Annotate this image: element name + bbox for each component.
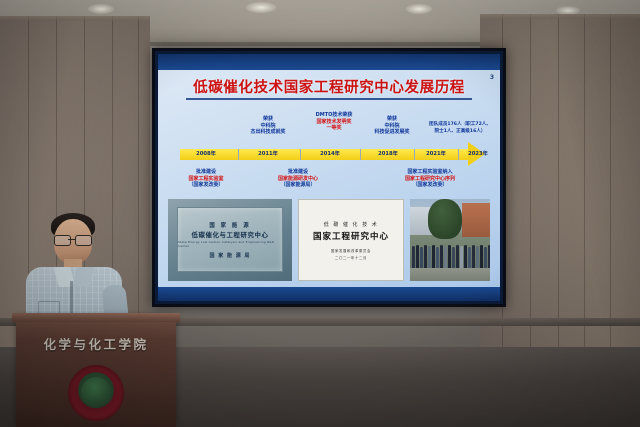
- glasses-right-lens: [75, 235, 92, 246]
- podium-top-surface: [12, 313, 180, 322]
- photo-plaque-engineering-center: 低 碳 催 化 技 术 国家工程研究中心 国家发展和改革委员会 二〇二一年十二月: [298, 199, 404, 281]
- timeline-tick-4: [414, 149, 415, 160]
- plaque2-line1: 低 碳 催 化 技 术: [324, 221, 378, 228]
- timeline-year-2021: 2021年: [426, 150, 446, 157]
- timeline-year-2023: 2023年: [468, 150, 488, 157]
- plaque2-line3: 国家发展和改革委员会: [331, 248, 371, 253]
- plaque1-line2: 低碳催化与工程研究中心: [192, 230, 269, 239]
- event-2011b-line1: 批准建设: [255, 169, 341, 176]
- timeline-tick-2: [300, 149, 301, 160]
- photo-team-group: [410, 199, 490, 281]
- slide-top-band: [158, 54, 500, 70]
- timeline-tick-1: [238, 149, 239, 160]
- building-red: [462, 203, 490, 237]
- event-2021-line3: （国家发改委）: [375, 182, 485, 189]
- timeline-tick-5: [458, 149, 459, 160]
- slide-bottom-band: [158, 287, 500, 301]
- photo-plaque-national-energy: 国 家 能 源 低碳催化与工程研究中心 State Energy Low Car…: [168, 199, 292, 281]
- plaque2-line2: 国家工程研究中心: [313, 230, 389, 242]
- plaque-board: 国 家 能 源 低碳催化与工程研究中心 State Energy Low Car…: [177, 207, 283, 272]
- timeline-event-2011-below: 批准建设 国家能源研发中心 （国家能源局）: [255, 169, 341, 189]
- photo-ground: [410, 268, 490, 281]
- event-2011b-line3: （国家能源局）: [255, 182, 341, 189]
- timeline-event-2021-below: 国家工程实验室纳入 国家工程研究中心序列 （国家发改委）: [375, 169, 485, 189]
- podium-label: 化学与化工学院: [16, 334, 176, 353]
- slide-page-number: 3: [490, 74, 494, 81]
- event-2023-line1: 团队成员176人（职工72人、: [400, 122, 500, 129]
- timeline-tick-3: [360, 149, 361, 160]
- led-screen: 低碳催化技术国家工程研究中心发展历程 3 2008年 2011年 2014年 2…: [152, 48, 506, 307]
- plaque1-line1: 国 家 能 源: [209, 221, 250, 229]
- event-2008-line1: 批准建设: [163, 169, 249, 176]
- event-2021-line1: 国家工程实验室纳入: [375, 169, 485, 176]
- event-2023-line2: 院士1人、正高级16人）: [400, 129, 500, 136]
- timeline-year-2008: 2008年: [196, 150, 216, 157]
- ceiling-light-2: [246, 2, 276, 13]
- crowd-of-people: [410, 240, 490, 268]
- timeline-year-2011: 2011年: [258, 150, 278, 157]
- timeline-event-2023-above: 团队成员176人（职工72人、 院士1人、正高级16人）: [400, 122, 500, 135]
- ceiling-light-1: [88, 4, 114, 14]
- left-wall-trim: [0, 16, 150, 21]
- plaque1-line3: State Energy Low Carbon Catalysis and En…: [178, 240, 282, 248]
- presentation-slide: 低碳催化技术国家工程研究中心发展历程 3 2008年 2011年 2014年 2…: [158, 54, 500, 301]
- glasses-left-lens: [54, 235, 71, 246]
- right-wall-trim: [480, 14, 640, 19]
- emblem-pine-tree-icon: [81, 377, 111, 407]
- glasses-bridge: [68, 239, 75, 240]
- tree-large: [428, 199, 462, 239]
- university-emblem: [68, 365, 124, 421]
- plaque1-line4: 国 家 能 源 局: [210, 252, 251, 259]
- lecture-hall-photo: 低碳催化技术国家工程研究中心发展历程 3 2008年 2011年 2014年 2…: [0, 0, 640, 427]
- title-underline: [186, 98, 472, 100]
- timeline-year-2014: 2014年: [320, 150, 340, 157]
- podium: 化学与化工学院: [16, 317, 176, 427]
- timeline-event-2008-below: 批准建设 国家工程实验室 （国家发改委）: [163, 169, 249, 189]
- slide-photo-row: 国 家 能 源 低碳催化与工程研究中心 State Energy Low Car…: [168, 199, 490, 281]
- timeline-year-2018: 2018年: [378, 150, 398, 157]
- slide-title: 低碳催化技术国家工程研究中心发展历程: [158, 76, 500, 97]
- event-2008-line3: （国家发改委）: [163, 182, 249, 189]
- plaque2-line4: 二〇二一年十二月: [335, 255, 367, 260]
- ceiling-light-3: [406, 4, 432, 14]
